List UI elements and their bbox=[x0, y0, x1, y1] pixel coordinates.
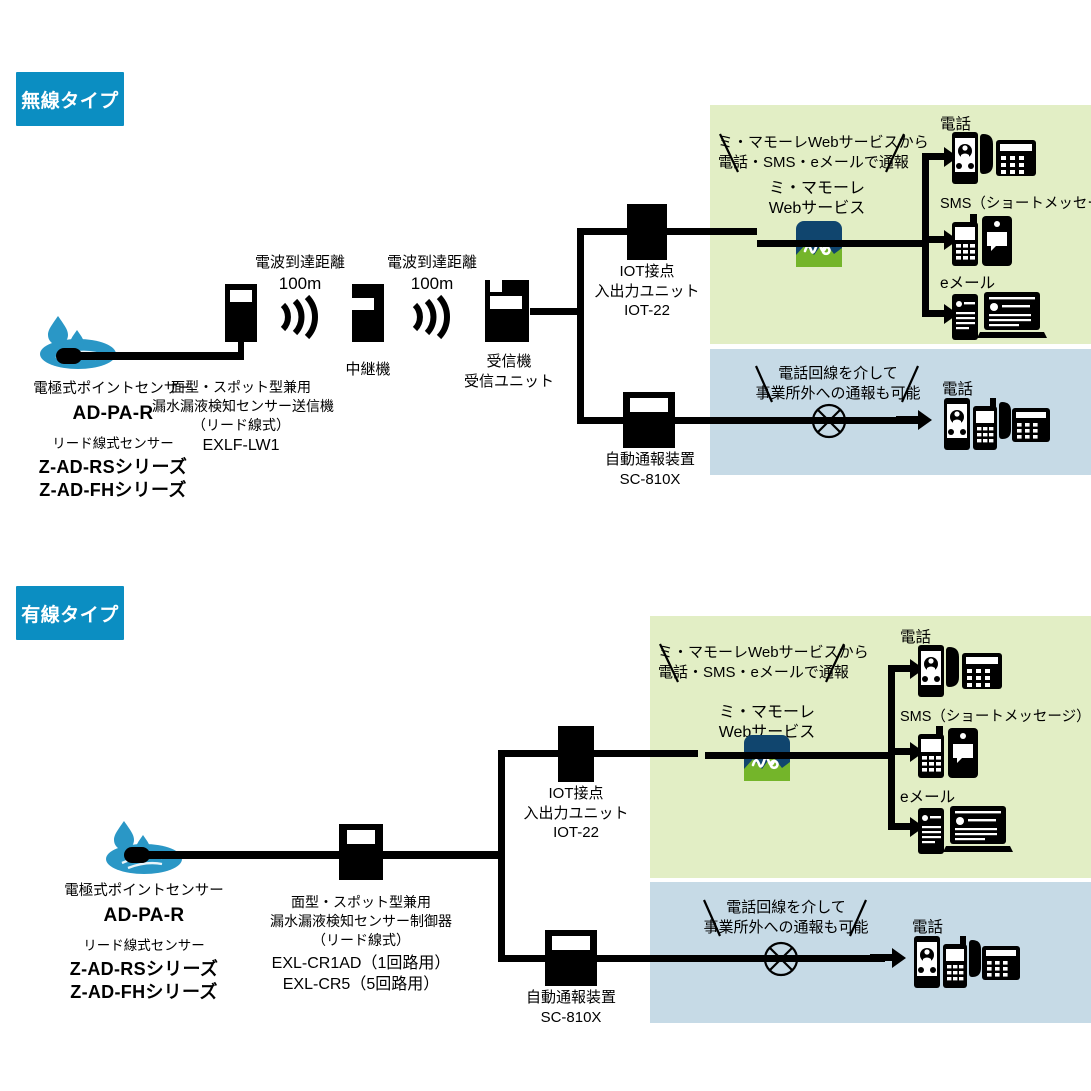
wireless-wave-icon-2 bbox=[409, 293, 455, 341]
blue-note-text-wired: 電話回線を介して 事業所外への通報も可能 bbox=[702, 898, 870, 937]
repeater-caption-wireless: 中継機 bbox=[320, 360, 416, 380]
iot-branch-wire-wired bbox=[498, 750, 698, 757]
radio-distance-2-line1: 電波到達距離 bbox=[375, 254, 489, 273]
green-note-text-wired: ミ・マモーレWebサービスから 電話・SMS・eメールで通報 bbox=[658, 643, 848, 682]
receiver-caption-wireless: 受信機 受信ユニット bbox=[456, 352, 562, 391]
diagram-canvas: 無線タイプ 電極式ポイントセンサー AD-PA-R リード線式センサー Z-AD… bbox=[0, 0, 1091, 1091]
output-label-sms-wireless: SMS（ショートメッセージ） bbox=[940, 192, 1091, 213]
sensor-label-line5: Z-AD-FHシリーズ bbox=[0, 479, 226, 502]
trunk-vertical-wired bbox=[498, 750, 505, 962]
controller-caption-wired: 面型・スポット型兼用 漏水漏液検知センサー制御器 （リード線式） EXL-CR1… bbox=[252, 893, 470, 996]
service-wire-wireless bbox=[757, 240, 929, 247]
auto-dialer-icon-wired bbox=[545, 930, 597, 986]
radio-distance-2-line2: 100m bbox=[375, 273, 489, 294]
iot-unit-icon-wired bbox=[558, 726, 594, 782]
green-note-wired-line1: ミ・マモーレWebサービスから bbox=[658, 643, 848, 663]
iot-caption-line1: IOT接点 bbox=[581, 262, 713, 282]
repeater-caption-line1: 中継機 bbox=[320, 360, 416, 380]
controller-icon bbox=[339, 824, 383, 880]
radio-distance-label-1: 電波到達距離 100m bbox=[243, 254, 357, 294]
auto-dialer-icon bbox=[623, 392, 675, 448]
dialer-caption-wired: 自動通報装置 SC-810X bbox=[502, 988, 640, 1027]
wireless-wave-icon-1 bbox=[277, 293, 323, 341]
dialer-caption-line1: 自動通報装置 bbox=[581, 450, 719, 470]
sensor-lead-wire-wireless bbox=[62, 352, 244, 360]
receiver-icon bbox=[481, 280, 533, 346]
receiver-caption-line1: 受信機 bbox=[456, 352, 562, 372]
blue-output-arrow-wired bbox=[870, 947, 906, 969]
dialer-branch-wire-wired bbox=[498, 955, 710, 962]
controller-caption-line2: 漏水漏液検知センサー制御器 bbox=[252, 912, 470, 931]
sensor-label-wired-line5: Z-AD-FHシリーズ bbox=[56, 981, 232, 1004]
iot-branch-wire-wireless bbox=[577, 228, 757, 235]
sms-devices-icon-wired bbox=[918, 726, 984, 778]
sensor-label-line4: Z-AD-RSシリーズ bbox=[0, 456, 226, 479]
receiver-caption-line2: 受信ユニット bbox=[456, 372, 562, 392]
trunk-vertical-wireless bbox=[577, 228, 584, 424]
water-drop-puddle-icon-wired bbox=[92, 815, 192, 877]
blue-output-label-wired: 電話 bbox=[912, 915, 943, 937]
service-name-wireless: ミ・マモーレ Webサービス bbox=[750, 179, 884, 220]
green-note-line1: ミ・マモーレWebサービスから bbox=[718, 133, 908, 153]
dialer-caption-wired-line1: 自動通報装置 bbox=[502, 988, 640, 1008]
green-note-wired-line2: 電話・SMS・eメールで通報 bbox=[658, 663, 848, 683]
green-note-text-wireless: ミ・マモーレWebサービスから 電話・SMS・eメールで通報 bbox=[718, 133, 908, 172]
phone-devices-icon bbox=[952, 132, 1036, 184]
transmitter-caption-line2: 漏水漏液検知センサー送信機 bbox=[152, 397, 330, 416]
sensor-label-wired-line2: AD-PA-R bbox=[56, 904, 232, 928]
green-note-line2: 電話・SMS・eメールで通報 bbox=[718, 153, 908, 173]
sensor-label-wired-line4: Z-AD-RSシリーズ bbox=[56, 958, 232, 981]
sms-devices-icon bbox=[952, 214, 1018, 266]
section-tag-wireless: 無線タイプ bbox=[16, 72, 124, 126]
dialer-caption-line2: SC-810X bbox=[581, 470, 719, 490]
service-name-wired-line1: ミ・マモーレ bbox=[700, 703, 834, 723]
sensor-lead-tip-wired bbox=[124, 847, 150, 863]
sensor-lead-tip-wireless bbox=[56, 348, 82, 364]
output-label-sms-wired: SMS（ショートメッセージ） bbox=[900, 705, 1091, 726]
sensor-label-wired-line3: リード線式センサー bbox=[56, 937, 232, 954]
transmitter-caption-line4: EXLF-LW1 bbox=[152, 435, 330, 457]
phone-devices-trio-icon-wired bbox=[914, 936, 1020, 988]
iot-unit-icon bbox=[627, 204, 667, 260]
service-name-line2: Webサービス bbox=[750, 199, 884, 219]
iot-caption-wired-line1: IOT接点 bbox=[510, 784, 642, 804]
sensor-label-wired-line1: 電極式ポイントセンサー bbox=[56, 882, 232, 901]
iot-caption-wired-line2: 入出力ユニット bbox=[510, 804, 642, 824]
blue-output-label-wireless: 電話 bbox=[942, 377, 973, 399]
section-tag-label: 無線タイプ bbox=[21, 86, 119, 113]
blue-note-text-wireless: 電話回線を介して 事業所外への通報も可能 bbox=[754, 364, 922, 403]
service-wire-wired bbox=[705, 752, 895, 759]
controller-caption-line4: EXL-CR1AD（1回路用） bbox=[252, 953, 470, 975]
transmitter-caption-line1: 面型・スポット型兼用 bbox=[152, 378, 330, 397]
email-devices-icon-wired bbox=[918, 802, 1012, 854]
blue-output-arrow-wireless bbox=[896, 409, 932, 431]
iot-caption-wired-line3: IOT-22 bbox=[510, 823, 642, 843]
email-devices-icon bbox=[952, 288, 1046, 340]
sensor-label-wired: 電極式ポイントセンサー AD-PA-R リード線式センサー Z-AD-RSシリー… bbox=[56, 882, 232, 1004]
phone-devices-trio-icon bbox=[944, 398, 1050, 450]
dialer-caption-wireless: 自動通報装置 SC-810X bbox=[581, 450, 719, 489]
output-label-phone-wireless: 電話 bbox=[940, 112, 971, 134]
iot-caption-line2: 入出力ユニット bbox=[581, 282, 713, 302]
controller-caption-line3: （リード線式） bbox=[252, 931, 470, 950]
dialer-caption-wired-line2: SC-810X bbox=[502, 1008, 640, 1028]
radio-distance-1-line2: 100m bbox=[243, 273, 357, 294]
receiver-output-wire-wireless bbox=[530, 308, 584, 315]
blue-note-wired-line1: 電話回線を介して bbox=[702, 898, 870, 918]
iot-caption-wired: IOT接点 入出力ユニット IOT-22 bbox=[510, 784, 642, 843]
section-tag-label-wired: 有線タイプ bbox=[21, 600, 119, 627]
iot-caption-line3: IOT-22 bbox=[581, 301, 713, 321]
controller-caption-line1: 面型・スポット型兼用 bbox=[252, 893, 470, 912]
output-label-phone-wired: 電話 bbox=[900, 625, 931, 647]
sensor-lead-wire-wired bbox=[130, 851, 505, 859]
blue-note-wired-line2: 事業所外への通報も可能 bbox=[702, 918, 870, 938]
radio-distance-1-line1: 電波到達距離 bbox=[243, 254, 357, 273]
transmitter-caption-line3: （リード線式） bbox=[152, 416, 330, 435]
section-tag-wired: 有線タイプ bbox=[16, 586, 124, 640]
transmitter-caption-wireless: 面型・スポット型兼用 漏水漏液検知センサー送信機 （リード線式） EXLF-LW… bbox=[152, 378, 330, 456]
iot-caption-wireless: IOT接点 入出力ユニット IOT-22 bbox=[581, 262, 713, 321]
telephone-line-node-icon-wired bbox=[763, 941, 799, 977]
radio-distance-label-2: 電波到達距離 100m bbox=[375, 254, 489, 294]
blue-note-line2: 事業所外への通報も可能 bbox=[754, 384, 922, 404]
service-name-line1: ミ・マモーレ bbox=[750, 179, 884, 199]
controller-caption-line5: EXL-CR5（5回路用） bbox=[252, 974, 470, 996]
telephone-line-node-icon bbox=[811, 403, 847, 439]
phone-devices-icon-wired bbox=[918, 645, 1002, 697]
blue-note-line1: 電話回線を介して bbox=[754, 364, 922, 384]
dialer-branch-wire-wireless bbox=[577, 417, 777, 424]
